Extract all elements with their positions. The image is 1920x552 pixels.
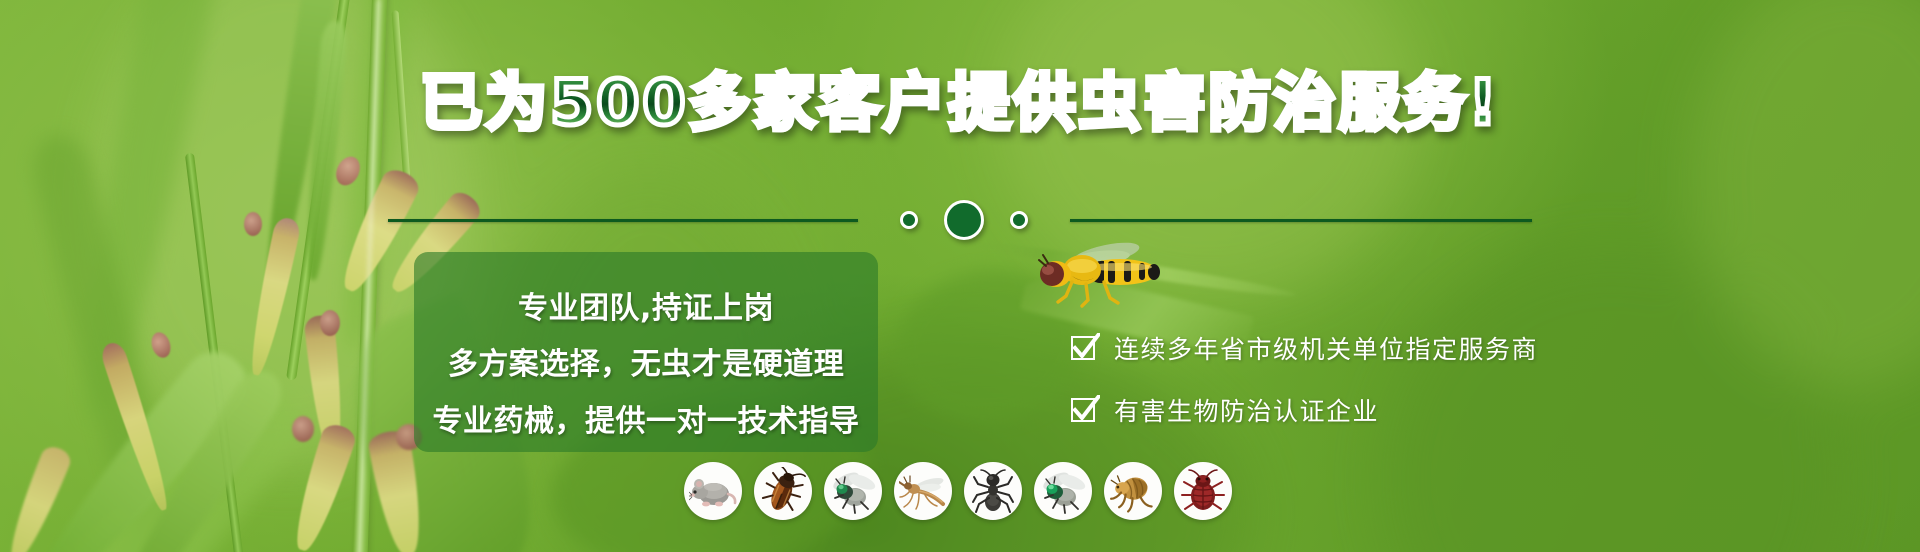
decor-dot-small-right [1010, 211, 1028, 229]
pest-chip[interactable] [824, 462, 882, 520]
housefly-icon [829, 467, 877, 515]
list-item-label: 连续多年省市级机关单位指定服务商 [1114, 330, 1538, 366]
mosquito-icon [899, 467, 947, 515]
check-box-icon [1070, 395, 1100, 425]
pest-chip[interactable] [1104, 462, 1162, 520]
pest-chip[interactable] [894, 462, 952, 520]
feature-panel: 专业团队,持证上岗 多方案选择，无虫才是硬道理 专业药械，提供一对一技术指导 [414, 252, 878, 452]
ant-icon [969, 467, 1017, 515]
pest-type-list [684, 462, 1232, 520]
cockroach-icon [759, 467, 807, 515]
rodent-icon [689, 467, 737, 515]
divider [0, 200, 1920, 240]
list-item: 连续多年省市级机关单位指定服务商 [1070, 330, 1538, 366]
flea-icon [1109, 467, 1157, 515]
feature-line-2: 多方案选择，无虫才是硬道理 [448, 339, 845, 383]
pest-chip[interactable] [964, 462, 1022, 520]
bedbug-icon [1179, 467, 1227, 515]
list-item: 有害生物防治认证企业 [1070, 392, 1538, 428]
pest-chip[interactable] [1034, 462, 1092, 520]
divider-rule-right [1070, 219, 1532, 222]
check-box-icon [1070, 333, 1100, 363]
pest-chip[interactable] [684, 462, 742, 520]
blowfly-icon [1039, 467, 1087, 515]
list-item-label: 有害生物防治认证企业 [1114, 392, 1379, 428]
pest-control-promo-banner: 已为500多家客户提供虫害防治服务! 专业团队,持证上岗 多方案选择，无虫才是硬… [0, 0, 1920, 552]
pest-chip[interactable] [754, 462, 812, 520]
decor-dot-small-left [900, 211, 918, 229]
pest-chip[interactable] [1174, 462, 1232, 520]
decor-dot-large [944, 200, 984, 240]
hoverfly-icon [1028, 236, 1168, 312]
credentials-list: 连续多年省市级机关单位指定服务商 有害生物防治认证企业 [1070, 330, 1538, 428]
feature-line-3: 专业药械，提供一对一技术指导 [433, 396, 860, 440]
divider-rule-left [388, 219, 858, 222]
feature-line-1: 专业团队,持证上岗 [518, 283, 774, 327]
